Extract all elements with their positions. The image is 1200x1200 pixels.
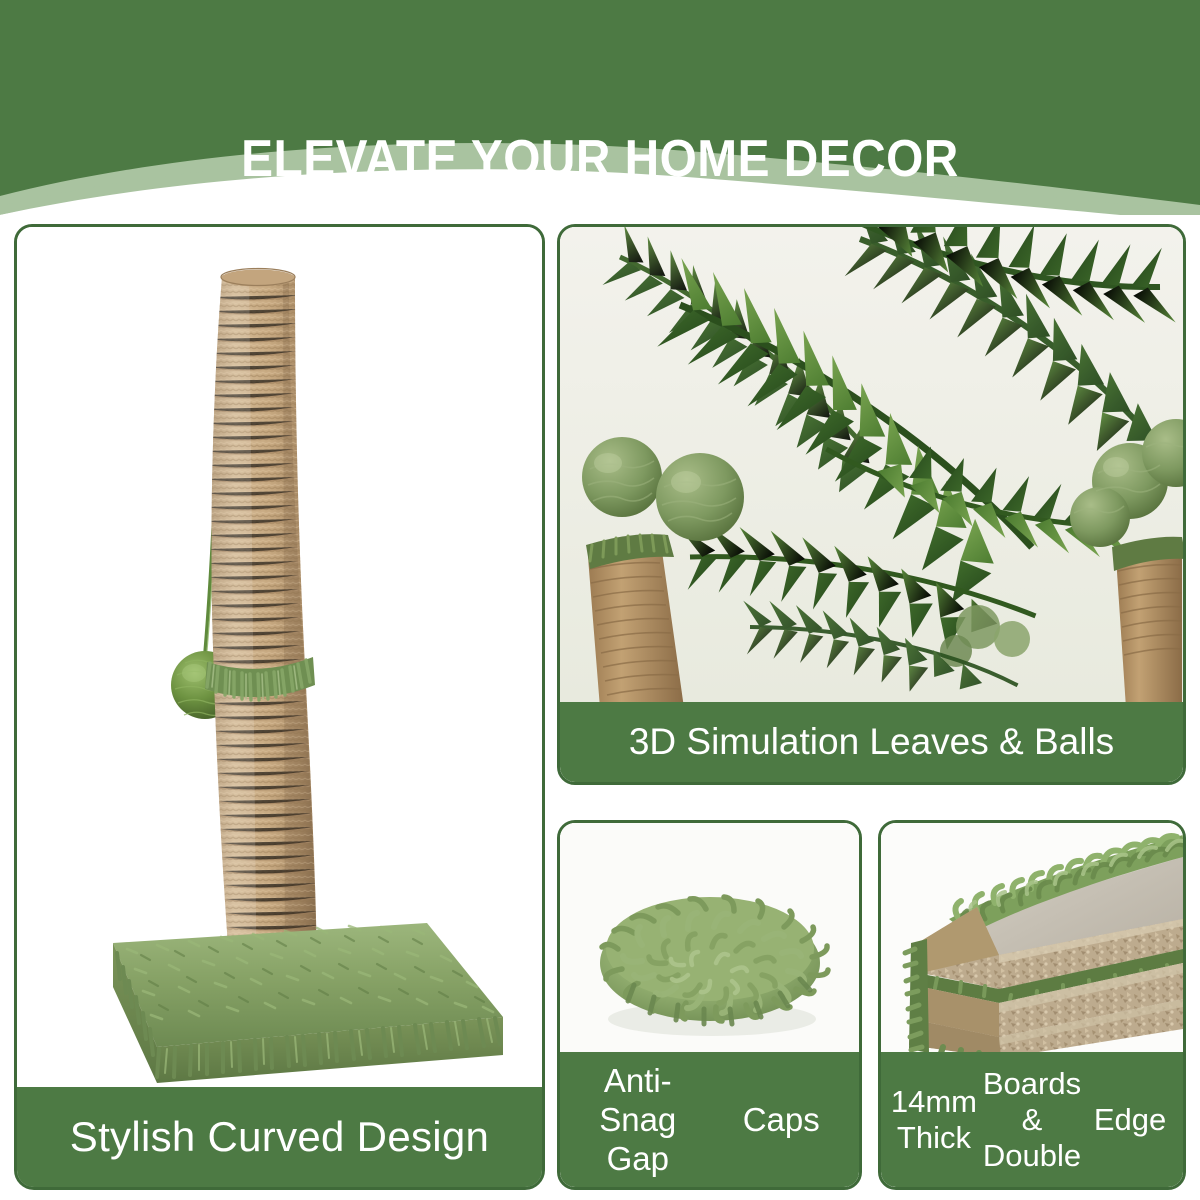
palm-fronds-illustration: [560, 227, 1183, 708]
caption-gap-caps: Anti-Snag Gap Caps: [560, 1052, 859, 1187]
board-stack-illustration: [881, 823, 1183, 1058]
sisal-post: [197, 267, 337, 1007]
product-photo-palm-leaves: [560, 227, 1183, 708]
scratching-post-illustration: [17, 227, 542, 1093]
page-title: ELEVATE YOUR HOME DECOR LET YOUR CAT SCR…: [48, 14, 1152, 215]
caption-text: 3D Simulation Leaves & Balls: [560, 721, 1183, 763]
caption-text: Stylish Curved Design: [17, 1113, 542, 1161]
caption-leaves-balls: 3D Simulation Leaves & Balls: [560, 702, 1183, 782]
caption-curved-design: Stylish Curved Design: [17, 1087, 542, 1187]
product-photo-gap-cap: [560, 823, 859, 1058]
caption-thick-boards: 14mm Thick Boards & Double Edge: [881, 1052, 1183, 1187]
page-title-line-1: ELEVATE YOUR HOME DECOR: [48, 130, 1152, 188]
gap-cap-illustration: [560, 823, 859, 1058]
caption-text-line-2: Boards & Double: [983, 1066, 1081, 1174]
header-banner: ELEVATE YOUR HOME DECOR LET YOUR CAT SCR…: [0, 0, 1200, 215]
caption-text-line-1: Anti-Snag Gap: [566, 1061, 710, 1178]
feature-panel-leaves-balls: 3D Simulation Leaves & Balls: [557, 224, 1186, 785]
product-photo-thick-boards: [881, 823, 1183, 1058]
shaggy-base-mat: [113, 923, 503, 1083]
caption-text-line-2: Caps: [710, 1100, 854, 1139]
feature-panel-gap-caps: Anti-Snag Gap Caps: [557, 820, 862, 1190]
caption-text-line-1: 14mm Thick: [885, 1084, 983, 1156]
feature-panel-thick-boards: 14mm Thick Boards & Double Edge: [878, 820, 1186, 1190]
feature-panel-curved-design: Stylish Curved Design: [14, 224, 545, 1190]
product-photo-curved-post: [17, 227, 542, 1093]
caption-text-line-3: Edge: [1081, 1102, 1179, 1138]
